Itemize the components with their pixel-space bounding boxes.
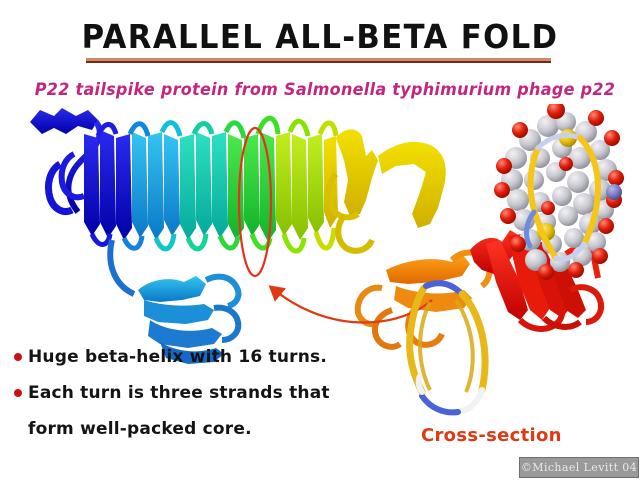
subtitle: P22 tailspike protein from Salmonella ty…	[27, 80, 623, 99]
bullet-dot-icon	[14, 389, 22, 397]
helix-turn	[228, 132, 276, 242]
copyright-text: ©Michael Levitt 04	[521, 461, 637, 474]
cross-section-caption: Cross-section	[421, 425, 562, 446]
bullet-dot-icon	[14, 353, 22, 361]
title-block: PARALLEL ALL-BETA FOLD	[0, 18, 640, 56]
helix-turn	[84, 130, 132, 240]
bullet-dot-placeholder	[14, 425, 22, 433]
helix-turn	[276, 132, 324, 240]
bullet-text: form well-packed core.	[28, 416, 252, 442]
bullet-list: Huge beta-helix with 16 turns. Each turn…	[14, 344, 384, 452]
c-terminal-yellow-domain	[329, 129, 446, 250]
page-title: PARALLEL ALL-BETA FOLD	[22, 18, 617, 56]
helix-turn	[180, 132, 228, 240]
title-underline-bottom	[86, 61, 551, 63]
n-terminal-coil	[30, 108, 98, 134]
bullet-text: Huge beta-helix with 16 turns.	[28, 344, 327, 370]
spacefill-nitrogen-atoms	[606, 184, 622, 200]
beta-helix-ribbon	[30, 108, 601, 364]
copyright-badge: ©Michael Levitt 04	[519, 457, 639, 478]
slide-canvas: PARALLEL ALL-BETA FOLD P22 tailspike pro…	[0, 0, 640, 480]
bullet-text: Each turn is three strands that	[28, 380, 330, 406]
list-item-continuation: form well-packed core.	[14, 416, 384, 442]
list-item: Huge beta-helix with 16 turns.	[14, 344, 384, 370]
list-item: Each turn is three strands that	[14, 380, 384, 406]
helix-strand-stack	[84, 130, 338, 242]
helix-turn	[132, 132, 180, 240]
